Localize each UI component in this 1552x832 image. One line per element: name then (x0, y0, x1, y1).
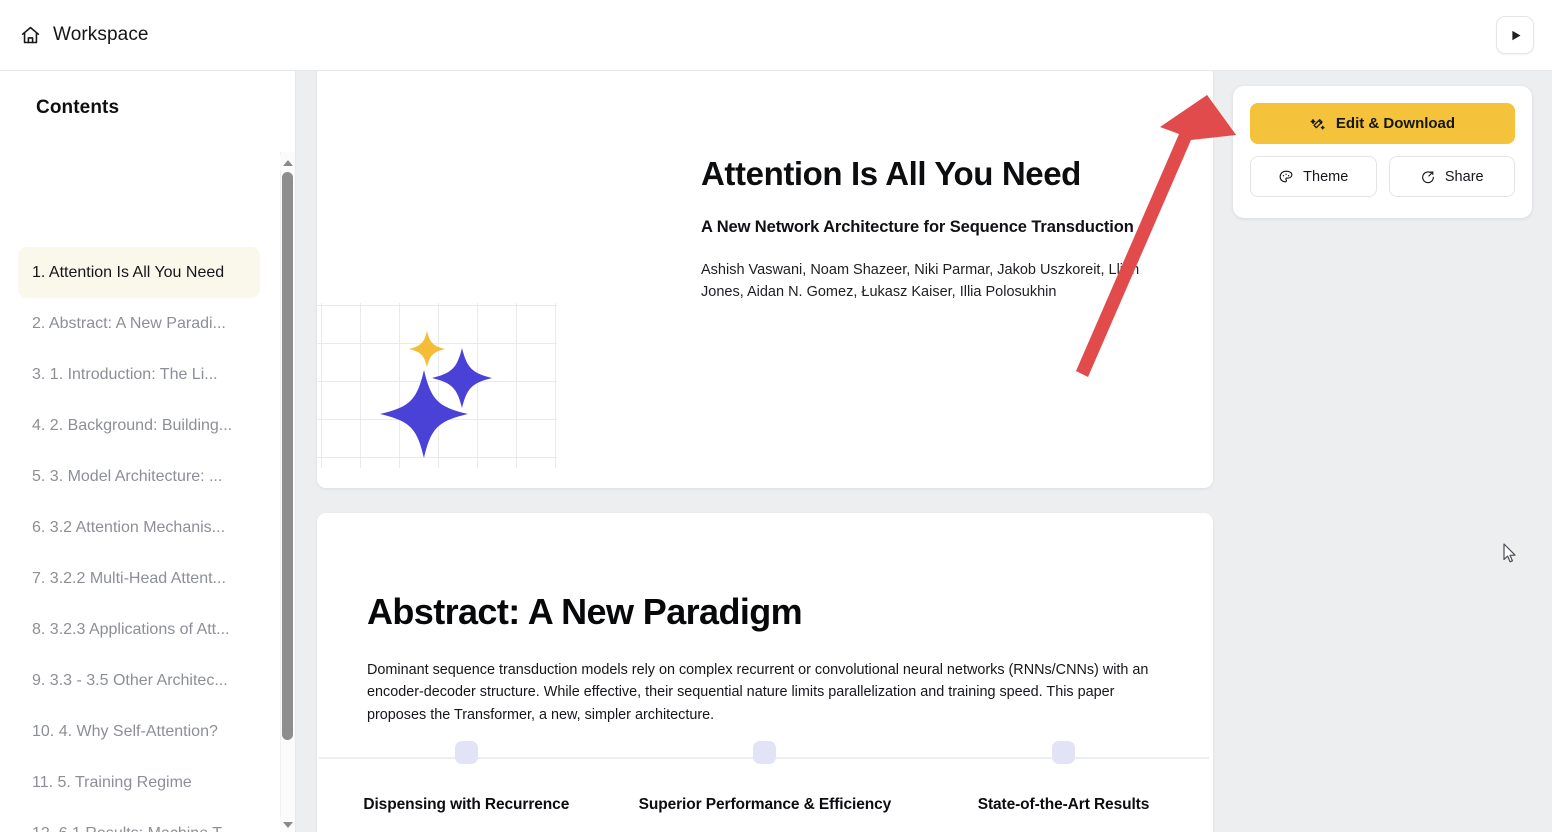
table-of-contents: 1. Attention Is All You Need2. Abstract:… (0, 181, 278, 832)
share-button[interactable]: Share (1389, 156, 1516, 197)
abstract-heading: Abstract: A New Paradigm (367, 591, 802, 633)
feature-columns: Dispensing with RecurrenceThe Transforme… (317, 741, 1213, 832)
sidebar-item-label: 8. 3.2.3 Applications of Att... (32, 621, 229, 639)
magic-wand-icon (1310, 116, 1326, 132)
sidebar-item-2[interactable]: 2. Abstract: A New Paradi... (18, 298, 260, 349)
sidebar-scrollbar-thumb[interactable] (282, 172, 293, 740)
feature-column-title: Dispensing with Recurrence (331, 794, 602, 816)
sidebar-item-label: 6. 3.2 Attention Mechanis... (32, 519, 225, 537)
slide-abstract-card[interactable]: Abstract: A New Paradigm Dominant sequen… (317, 513, 1213, 832)
sidebar-item-12[interactable]: 12. 6.1 Results: Machine T... (18, 808, 260, 832)
sidebar-item-label: 12. 6.1 Results: Machine T... (32, 825, 234, 832)
slide-title-card[interactable]: Attention Is All You Need A New Network … (317, 71, 1213, 488)
page-title: Attention Is All You Need (701, 156, 1181, 193)
sidebar-item-11[interactable]: 11. 5. Training Regime (18, 757, 260, 808)
theme-label: Theme (1303, 169, 1348, 185)
sidebar-item-label: 5. 3. Model Architecture: ... (32, 468, 222, 486)
sidebar-item-10[interactable]: 10. 4. Why Self-Attention? (18, 706, 260, 757)
secondary-actions-row: Theme Share (1250, 156, 1515, 197)
palette-icon (1278, 169, 1294, 185)
sidebar-item-label: 7. 3.2.2 Multi-Head Attent... (32, 570, 226, 588)
feature-column-title: Superior Performance & Efficiency (630, 794, 901, 816)
sparkles-icon (317, 303, 557, 468)
sidebar-item-label: 3. 1. Introduction: The Li... (32, 366, 218, 384)
sidebar-item-1[interactable]: 1. Attention Is All You Need (18, 247, 260, 298)
sidebar-item-3[interactable]: 3. 1. Introduction: The Li... (18, 349, 260, 400)
share-icon (1420, 169, 1436, 185)
sidebar-scroll-down-icon[interactable] (280, 817, 295, 832)
actions-panel: Edit & Download Theme Share (1233, 86, 1532, 218)
author-list: Ashish Vaswani, Noam Shazeer, Niki Parma… (701, 259, 1171, 304)
page-subtitle: A New Network Architecture for Sequence … (701, 218, 1181, 237)
sidebar-item-5[interactable]: 5. 3. Model Architecture: ... (18, 451, 260, 502)
timeline-dot (753, 741, 776, 764)
theme-button[interactable]: Theme (1250, 156, 1377, 197)
timeline-dot (1052, 741, 1075, 764)
top-bar: Workspace (0, 0, 1552, 71)
sidebar-item-label: 11. 5. Training Regime (32, 774, 192, 792)
abstract-body: Dominant sequence transduction models re… (367, 659, 1157, 726)
home-icon (20, 25, 41, 46)
feature-column-3: State-of-the-Art ResultsAchieved a 28.4 … (914, 741, 1213, 832)
sidebar-item-label: 2. Abstract: A New Paradi... (32, 315, 226, 333)
edit-and-download-button[interactable]: Edit & Download (1250, 103, 1515, 144)
sidebar-item-9[interactable]: 9. 3.3 - 3.5 Other Architec... (18, 655, 260, 706)
edit-and-download-label: Edit & Download (1336, 115, 1455, 132)
feature-column-text: Achieved a 28.4 BLEU score on the WMT 20… (928, 828, 1199, 832)
share-label: Share (1445, 169, 1484, 185)
play-button[interactable] (1496, 16, 1534, 54)
breadcrumb[interactable]: Workspace (20, 24, 149, 46)
feature-column-text: Experiments show the Transformer is supe… (630, 828, 901, 832)
sidebar-item-8[interactable]: 8. 3.2.3 Applications of Att... (18, 604, 260, 655)
sidebar: Contents 1. Attention Is All You Need2. … (0, 71, 296, 832)
feature-column-2: Superior Performance & EfficiencyExperim… (616, 741, 915, 832)
feature-column-title: State-of-the-Art Results (928, 794, 1199, 816)
title-block: Attention Is All You Need A New Network … (701, 156, 1181, 304)
sidebar-item-label: 9. 3.3 - 3.5 Other Architec... (32, 672, 228, 690)
timeline-dot (455, 741, 478, 764)
sidebar-item-6[interactable]: 6. 3.2 Attention Mechanis... (18, 502, 260, 553)
sidebar-item-label: 1. Attention Is All You Need (32, 264, 224, 282)
play-icon (1508, 28, 1523, 43)
sidebar-item-label: 10. 4. Why Self-Attention? (32, 723, 218, 741)
sidebar-item-4[interactable]: 4. 2. Background: Building... (18, 400, 260, 451)
sidebar-item-7[interactable]: 7. 3.2.2 Multi-Head Attent... (18, 553, 260, 604)
app-root: Workspace Contents 1. Attention Is All Y… (0, 0, 1552, 832)
workspace-title: Workspace (53, 24, 149, 46)
sidebar-scroll-up-icon[interactable] (280, 155, 295, 170)
feature-column-text: The Transformer is based solely on atten… (331, 828, 602, 832)
sidebar-item-label: 4. 2. Background: Building... (32, 417, 232, 435)
sidebar-heading: Contents (0, 71, 295, 119)
feature-column-1: Dispensing with RecurrenceThe Transforme… (317, 741, 616, 832)
